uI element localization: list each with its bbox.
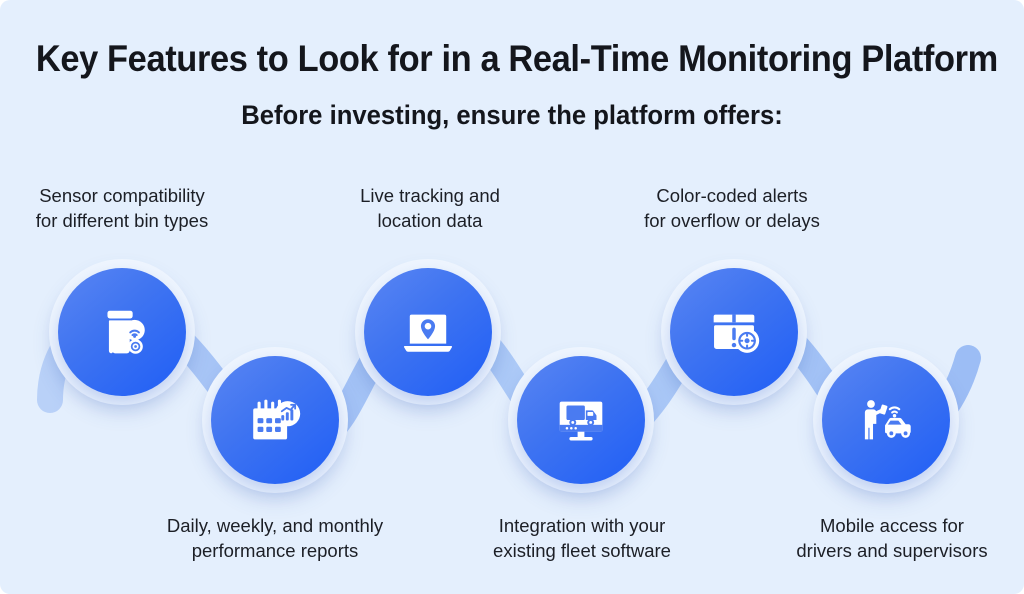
caption-mobile-access: Mobile access for drivers and supervisor… [742, 513, 1024, 563]
caption-line-1: Live tracking and [280, 183, 580, 208]
icon-bubble[interactable] [364, 268, 492, 396]
caption-line-1: Daily, weekly, and monthly [125, 513, 425, 538]
caption-line-2: performance reports [125, 538, 425, 563]
laptop-location-pin-icon [397, 301, 459, 363]
monitor-truck-icon [550, 389, 612, 451]
caption-line-1: Sensor compatibility [0, 183, 272, 208]
icon-bubble[interactable] [517, 356, 645, 484]
smart-bin-sensor-icon [91, 301, 153, 363]
caption-line-1: Integration with your [432, 513, 732, 538]
caption-line-1: Mobile access for [742, 513, 1024, 538]
icon-bubble[interactable] [58, 268, 186, 396]
caption-line-1: Color-coded alerts [582, 183, 882, 208]
caption-color-coded-alerts: Color-coded alerts for overflow or delay… [582, 183, 882, 233]
caption-live-tracking: Live tracking and location data [280, 183, 580, 233]
caption-line-2: for different bin types [0, 208, 272, 233]
icon-bubble[interactable] [211, 356, 339, 484]
calendar-analytics-icon [244, 389, 306, 451]
alert-bin-warning-icon [703, 301, 765, 363]
driver-mobile-vehicle-icon [855, 389, 917, 451]
icon-bubble[interactable] [670, 268, 798, 396]
caption-line-2: location data [280, 208, 580, 233]
caption-fleet-integration: Integration with your existing fleet sof… [432, 513, 732, 563]
page-title: Key Features to Look for in a Real-Time … [36, 38, 988, 80]
caption-line-2: existing fleet software [432, 538, 732, 563]
caption-line-2: drivers and supervisors [742, 538, 1024, 563]
caption-line-2: for overflow or delays [582, 208, 882, 233]
icon-bubble[interactable] [822, 356, 950, 484]
caption-sensor-compatibility: Sensor compatibility for different bin t… [0, 183, 272, 233]
infographic-poster: Key Features to Look for in a Real-Time … [0, 0, 1024, 594]
page-subtitle: Before investing, ensure the platform of… [26, 100, 999, 131]
caption-performance-reports: Daily, weekly, and monthly performance r… [125, 513, 425, 563]
